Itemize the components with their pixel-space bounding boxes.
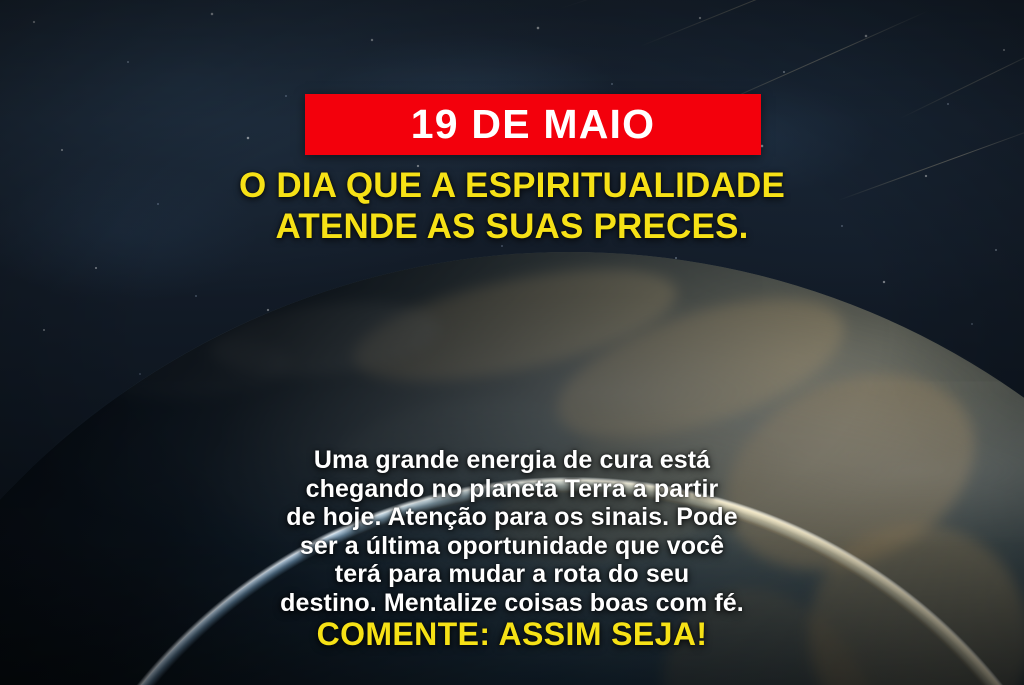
poster-canvas: 19 DE MAIO O DIA QUE A ESPIRITUALIDADE A… — [0, 0, 1024, 685]
body-line-4: ser a última oportunidade que você — [0, 532, 1024, 561]
body-line-3: de hoje. Atenção para os sinais. Pode — [0, 503, 1024, 532]
headline: O DIA QUE A ESPIRITUALIDADE ATENDE AS SU… — [0, 166, 1024, 248]
body-line-5: terá para mudar a rota do seu — [0, 560, 1024, 589]
headline-line-2: ATENDE AS SUAS PRECES. — [0, 207, 1024, 248]
call-to-action-label: COMENTE: ASSIM SEJA! — [0, 617, 1024, 652]
date-banner-label: 19 DE MAIO — [411, 104, 655, 145]
body-paragraph: Uma grande energia de cura está chegando… — [0, 446, 1024, 617]
headline-line-1: O DIA QUE A ESPIRITUALIDADE — [0, 166, 1024, 207]
body-line-6: destino. Mentalize coisas boas com fé. — [0, 589, 1024, 618]
poster-content: 19 DE MAIO O DIA QUE A ESPIRITUALIDADE A… — [0, 0, 1024, 685]
date-banner: 19 DE MAIO — [305, 94, 761, 155]
body-line-1: Uma grande energia de cura está — [0, 446, 1024, 475]
body-line-2: chegando no planeta Terra a partir — [0, 475, 1024, 504]
